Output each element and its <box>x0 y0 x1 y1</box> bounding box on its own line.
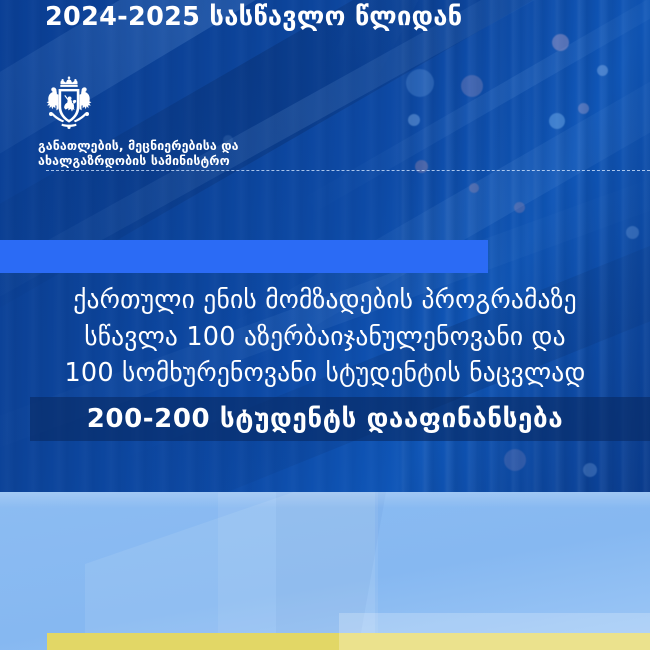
headline-line-2: სწავლა 100 აზერბაიჯანულენოვანი და <box>0 319 650 356</box>
poster-root: განათლების, მეცნიერებისა და ახალგაზრდობი… <box>0 0 650 650</box>
ministry-name: განათლების, მეცნიერებისა და ახალგაზრდობი… <box>38 139 368 168</box>
bottom-light-panel <box>0 492 650 650</box>
eyebrow-highlight-bar <box>0 240 488 273</box>
header-divider <box>46 170 650 171</box>
top-banner-panel: განათლების, მეცნიერებისა და ახალგაზრდობი… <box>0 0 650 492</box>
headline-line-3: 100 სომხურენოვანი სტუდენტის ნაცვლად <box>0 355 650 392</box>
bottom-shape-c <box>276 492 386 647</box>
georgian-coat-of-arms-icon <box>38 74 100 132</box>
eyebrow-text: 2024-2025 სასწავლო წლიდან <box>45 2 462 32</box>
bottom-panel-gloss <box>0 492 650 508</box>
footer-accent-strip <box>47 633 650 650</box>
emphasis-text: 200-200 სტუდენტს დააფინანსება <box>0 403 650 435</box>
ministry-lockup: განათლების, მეცნიერებისა და ახალგაზრდობი… <box>38 74 368 168</box>
headline-text: ქართული ენის მომზადების პროგრამაზე სწავლ… <box>0 282 650 392</box>
bottom-shape-b <box>218 492 378 642</box>
footer-accent-strip-light <box>339 633 650 650</box>
bottom-shape-a <box>85 492 375 642</box>
headline-line-1: ქართული ენის მომზადების პროგრამაზე <box>0 282 650 319</box>
